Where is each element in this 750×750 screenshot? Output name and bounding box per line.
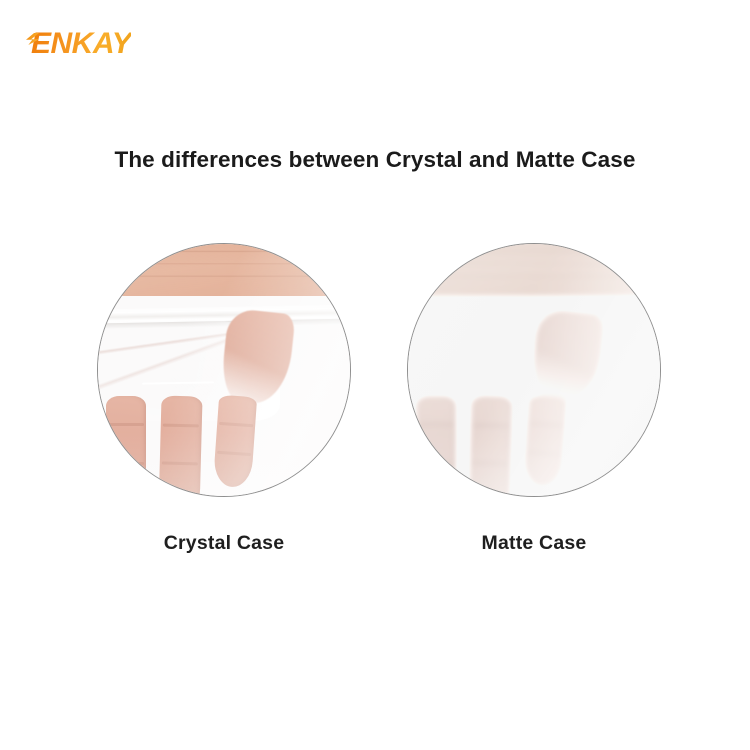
photo-matte-case: [407, 243, 661, 497]
thumb-region: [219, 308, 295, 407]
knuckle-line: [472, 461, 508, 465]
fingers-region: [97, 396, 306, 497]
thumb-region: [529, 308, 605, 407]
knuckle-line: [162, 461, 198, 465]
wrist-region: [97, 243, 347, 296]
knuckle-line: [220, 422, 254, 427]
finger-4: [213, 394, 258, 487]
comparison-item-crystal: Crystal Case: [97, 243, 351, 497]
caption-matte-case: Matte Case: [407, 532, 661, 555]
finger-3: [468, 395, 512, 497]
comparison-section: Crystal Case: [0, 243, 750, 573]
scene-crystal: [97, 243, 351, 497]
knuckle-line: [218, 451, 252, 456]
knuckle-line: [109, 423, 144, 426]
brand-name: ENKAY: [31, 29, 131, 59]
caption-crystal-case: Crystal Case: [97, 532, 351, 555]
knuckle-line: [530, 422, 564, 427]
knuckle-line: [419, 423, 454, 426]
finger-4: [523, 394, 568, 487]
wrist-lines: [407, 243, 657, 296]
wrist-region: [407, 243, 657, 296]
comparison-item-matte: Matte Case: [407, 243, 661, 497]
page-title: The differences between Crystal and Matt…: [0, 147, 750, 173]
photo-crystal-case: [97, 243, 351, 497]
knuckle-line: [163, 423, 199, 427]
fingers-region: [407, 396, 616, 497]
finger-3: [158, 395, 202, 497]
knuckle-line: [528, 451, 562, 456]
knuckle-line: [419, 462, 454, 465]
finger-2: [106, 396, 146, 497]
finger-2: [416, 396, 456, 497]
knuckle-line: [473, 423, 509, 427]
wrist-lines: [97, 243, 347, 296]
brand-logo: ENKAY: [31, 28, 131, 60]
scene-matte: [407, 243, 661, 497]
knuckle-line: [109, 462, 144, 465]
